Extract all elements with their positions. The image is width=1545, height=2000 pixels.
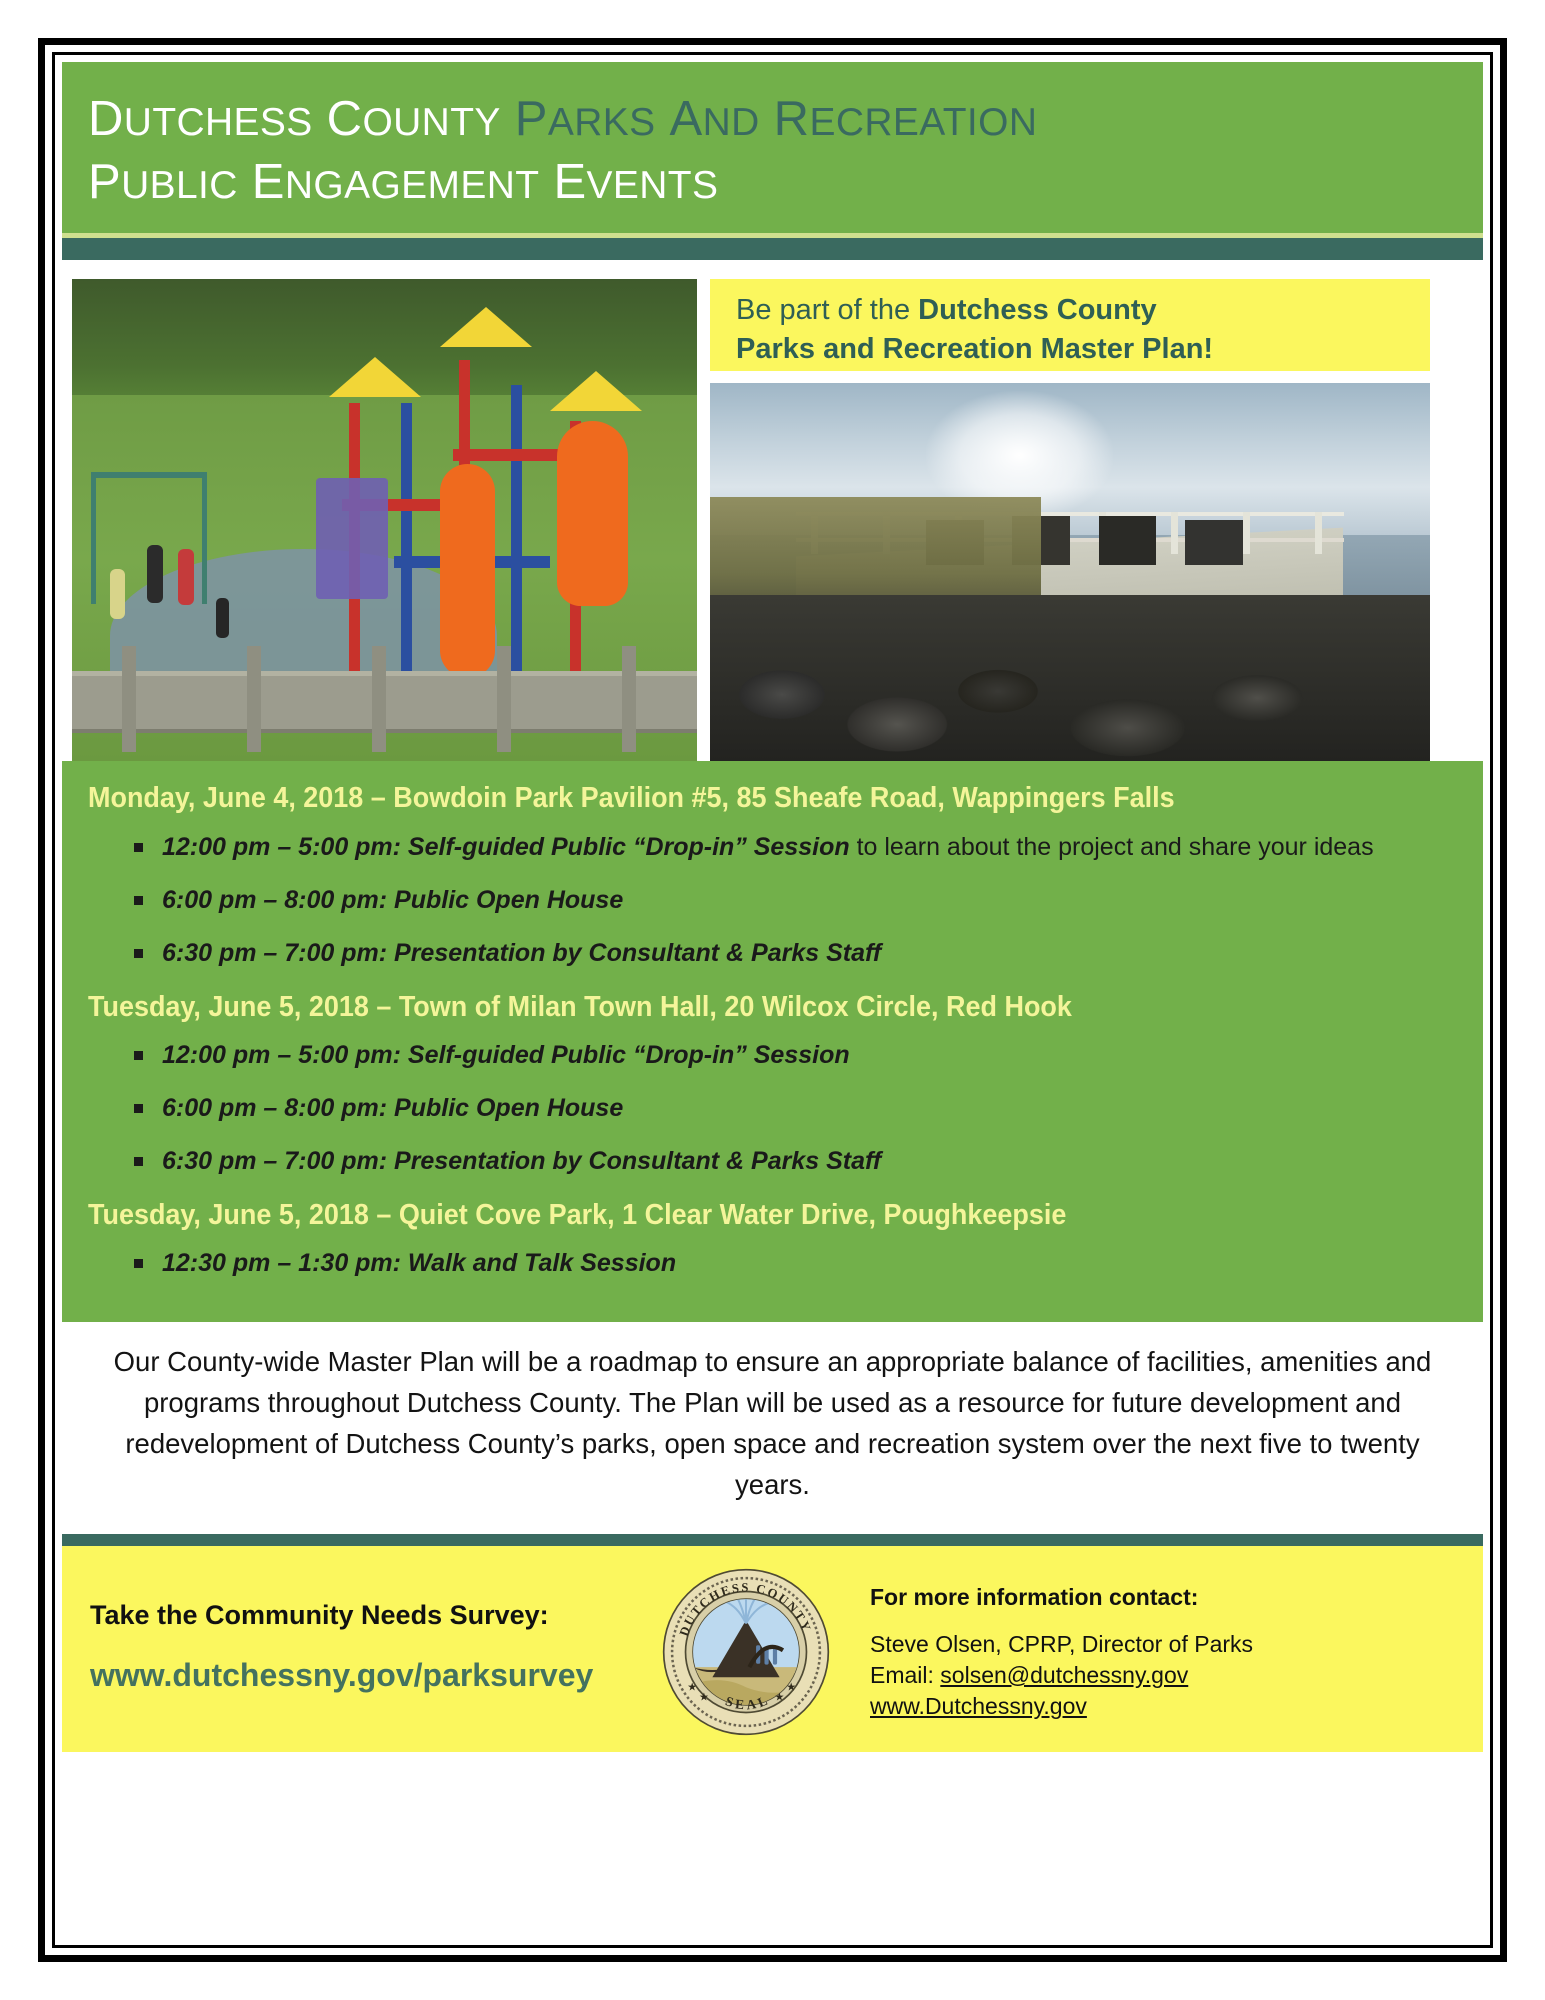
- header-title-line-2: PUBLIC ENGAGEMENT EVENTS: [88, 151, 1483, 214]
- event-bullet: 12:30 pm – 1:30 pm: Walk and Talk Sessio…: [132, 1245, 1457, 1282]
- person-1: [147, 545, 163, 603]
- event-bullet: 6:00 pm – 8:00 pm: Public Open House: [132, 1090, 1457, 1127]
- contact-email-line: Email: solsen@dutchessny.gov: [870, 1660, 1410, 1691]
- contact-email-link[interactable]: solsen@dutchessny.gov: [940, 1662, 1188, 1688]
- header-spacer: [62, 260, 1483, 279]
- structure-roof-center: [440, 307, 532, 347]
- contact-website-link[interactable]: www.Dutchessny.gov: [870, 1693, 1087, 1719]
- bullet-emphasis: 12:00 pm – 5:00 pm: Self-guided Public “…: [162, 833, 850, 861]
- event-heading: Tuesday, June 5, 2018 – Town of Milan To…: [88, 988, 1361, 1027]
- structure-pole-2: [401, 403, 412, 681]
- header-teal-bar: [62, 238, 1483, 260]
- survey-label: Take the Community Needs Survey:: [90, 1598, 590, 1633]
- fence-post-4: [497, 646, 511, 752]
- header-banner: DUTCHESS COUNTY PARKS AND RECREATION PUB…: [62, 62, 1483, 233]
- event-bullet: 6:30 pm – 7:00 pm: Presentation by Consu…: [132, 935, 1457, 972]
- flyer-page: DUTCHESS COUNTY PARKS AND RECREATION PUB…: [0, 0, 1545, 2000]
- person-3: [110, 569, 125, 619]
- header-title-dutchess-county: DUTCHESS COUNTY: [88, 92, 501, 146]
- flyer-content: DUTCHESS COUNTY PARKS AND RECREATION PUB…: [62, 62, 1483, 1938]
- contact-block: For more information contact: Steve Olse…: [870, 1584, 1410, 1723]
- event-bullet: 6:00 pm – 8:00 pm: Public Open House: [132, 882, 1457, 919]
- contact-heading: For more information contact:: [870, 1584, 1410, 1611]
- footer-teal-bar: [62, 1534, 1483, 1546]
- contact-name: Steve Olsen, CPRP, Director of Parks: [870, 1629, 1410, 1660]
- bullet-emphasis: 6:00 pm – 8:00 pm: Public Open House: [162, 886, 623, 914]
- event-heading: Tuesday, June 5, 2018 – Quiet Cove Park,…: [88, 1196, 1361, 1235]
- fence-post-3: [372, 646, 386, 752]
- svg-text:★: ★: [687, 1681, 697, 1693]
- person-4: [216, 598, 229, 638]
- survey-url-link[interactable]: www.dutchessny.gov/parksurvey: [90, 1655, 590, 1697]
- event-bullet-list: 12:30 pm – 1:30 pm: Walk and Talk Sessio…: [88, 1245, 1457, 1282]
- lakeside-dock-photo: [710, 383, 1430, 761]
- events-section: Monday, June 4, 2018 – Bowdoin Park Pavi…: [62, 761, 1483, 1321]
- bullet-emphasis: 6:30 pm – 7:00 pm: Presentation by Consu…: [162, 939, 881, 967]
- playground-photo: [72, 279, 697, 761]
- tube-slide: [557, 421, 629, 606]
- master-plan-callout: Be part of the Dutchess County Parks and…: [710, 279, 1430, 371]
- dutchess-county-seal-icon: DUTCHESS COUNTY SEAL ★ ★ ★ ★: [662, 1568, 830, 1736]
- dock-baluster-8: [1315, 512, 1322, 554]
- svg-text:★: ★: [699, 1691, 709, 1703]
- media-row: Be part of the Dutchess County Parks and…: [62, 279, 1483, 761]
- master-plan-paragraph: Our County-wide Master Plan will be a ro…: [90, 1342, 1455, 1506]
- contact-email-label: Email:: [870, 1662, 940, 1688]
- dock-baluster-6: [1171, 512, 1178, 554]
- bullet-emphasis: 6:00 pm – 8:00 pm: Public Open House: [162, 1094, 623, 1122]
- adirondack-chair-3: [1099, 516, 1157, 565]
- event-bullet: 12:00 pm – 5:00 pm: Self-guided Public “…: [132, 829, 1457, 866]
- event-bullet: 12:00 pm – 5:00 pm: Self-guided Public “…: [132, 1037, 1457, 1074]
- event-bullet: 6:30 pm – 7:00 pm: Presentation by Consu…: [132, 1143, 1457, 1180]
- callout-line-1: Be part of the Dutchess County: [736, 291, 1430, 329]
- fence-post-2: [247, 646, 261, 752]
- callout-line-2: Parks and Recreation Master Plan!: [736, 330, 1430, 368]
- header-title-line-1: DUTCHESS COUNTY PARKS AND RECREATION: [88, 88, 1483, 151]
- bullet-emphasis: 6:30 pm – 7:00 pm: Presentation by Consu…: [162, 1147, 881, 1175]
- survey-block: Take the Community Needs Survey: www.dut…: [90, 1598, 590, 1697]
- structure-pole-4: [511, 385, 522, 681]
- structure-roof-left: [329, 357, 421, 397]
- svg-text:★: ★: [786, 1681, 796, 1693]
- bullet-emphasis: 12:30 pm – 1:30 pm: Walk and Talk Sessio…: [162, 1249, 676, 1277]
- master-plan-description: Our County-wide Master Plan will be a ro…: [62, 1322, 1483, 1524]
- play-structure: [310, 357, 635, 714]
- dock-baluster-7: [1243, 512, 1250, 554]
- callout-bold-text-1: Dutchess County: [918, 294, 1156, 326]
- event-heading: Monday, June 4, 2018 – Bowdoin Park Pavi…: [88, 779, 1361, 818]
- bullet-emphasis: 12:00 pm – 5:00 pm: Self-guided Public “…: [162, 1041, 850, 1069]
- person-2: [178, 549, 194, 605]
- callout-bold-text-2: Parks and Recreation Master Plan!: [736, 333, 1213, 365]
- header-title-parks-recreation: PARKS AND RECREATION: [515, 92, 1038, 146]
- adirondack-chair-4: [1185, 520, 1243, 565]
- structure-roof-right: [550, 371, 642, 411]
- callout-regular-text: Be part of the: [736, 294, 918, 326]
- bullet-rest: to learn about the project and share you…: [850, 833, 1374, 861]
- event-bullet-list: 12:00 pm – 5:00 pm: Self-guided Public “…: [88, 829, 1457, 972]
- svg-text:★: ★: [775, 1691, 785, 1703]
- structure-climber: [316, 478, 388, 599]
- slide-center: [440, 464, 495, 678]
- shoreline-rocks: [710, 595, 1430, 761]
- event-bullet-list: 12:00 pm – 5:00 pm: Self-guided Public “…: [88, 1037, 1457, 1180]
- footer-section: Take the Community Needs Survey: www.dut…: [62, 1546, 1483, 1752]
- fence-post-5: [622, 646, 636, 752]
- fence-post-1: [122, 646, 136, 752]
